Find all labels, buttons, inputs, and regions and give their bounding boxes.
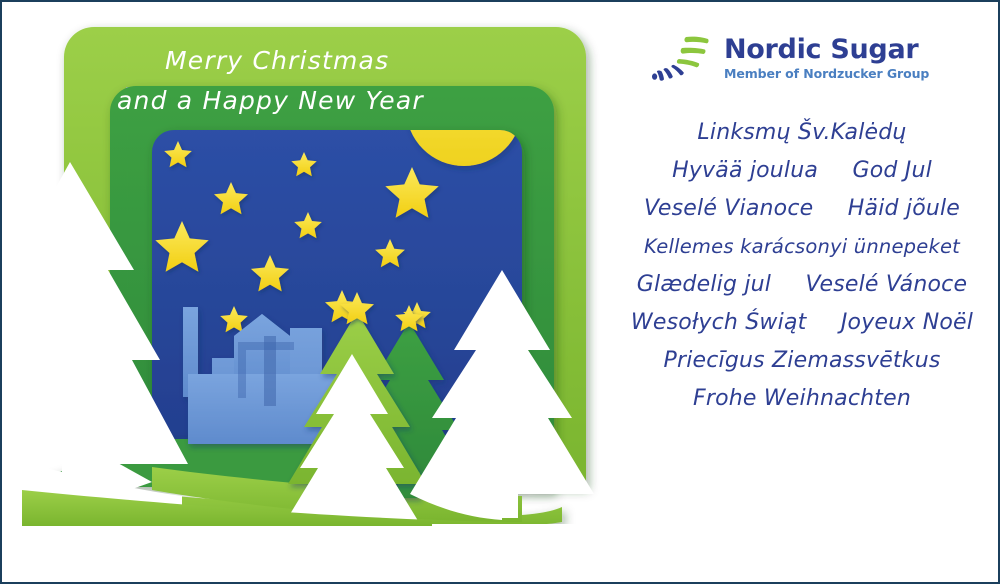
greeting-cs: Veselé Vánoce (806, 272, 968, 297)
nordic-sugar-logo: Nordic Sugar Member of Nordzucker Group (652, 34, 929, 82)
greeting-fr: Joyeux Noël (841, 310, 973, 335)
greeting-row: Priecīgus Ziemassvētkus (602, 342, 1000, 380)
greeting-sk: Veselé Vianoce (644, 196, 813, 221)
greeting-sv: God Jul (852, 158, 931, 183)
bottom-white-band (2, 524, 602, 584)
greeting-row: Kellemes karácsonyi ünnepeket (602, 228, 1000, 266)
text-panel: Nordic Sugar Member of Nordzucker Group … (602, 2, 1000, 584)
greeting-et: Häid jõule (848, 196, 960, 221)
greeting-row: Linksmų Šv.Kalėdų (602, 114, 1000, 152)
paper-cut-scene (2, 2, 602, 584)
illustration-panel: Merry Christmas and a Happy New Year (2, 2, 602, 584)
greeting-lt: Linksmų Šv.Kalėdų (697, 120, 906, 145)
logo-title: Nordic Sugar (724, 36, 929, 63)
greeting-row: Frohe Weihnachten (602, 380, 1000, 418)
greeting-row: Hyvää joulua God Jul (602, 152, 1000, 190)
greeting-pl: Wesołych Świąt (631, 310, 807, 335)
christmas-greeting-card: Merry Christmas and a Happy New Year (0, 0, 1000, 584)
logo-subtitle: Member of Nordzucker Group (724, 68, 929, 81)
nordic-sugar-rays-icon (652, 34, 714, 82)
multilingual-greetings: Linksmų Šv.Kalėdų Hyvää joulua God Jul V… (602, 114, 1000, 418)
greeting-row: Wesołych Świąt Joyeux Noël (602, 304, 1000, 342)
greeting-da: Glædelig jul (637, 272, 771, 297)
greeting-row: Glædelig jul Veselé Vánoce (602, 266, 1000, 304)
greeting-row: Veselé Vianoce Häid jõule (602, 190, 1000, 228)
greeting-lv: Priecīgus Ziemassvētkus (663, 348, 940, 373)
greeting-hu: Kellemes karácsonyi ünnepeket (644, 235, 960, 258)
greeting-fi: Hyvää joulua (672, 158, 818, 183)
greeting-de: Frohe Weihnachten (693, 386, 911, 411)
